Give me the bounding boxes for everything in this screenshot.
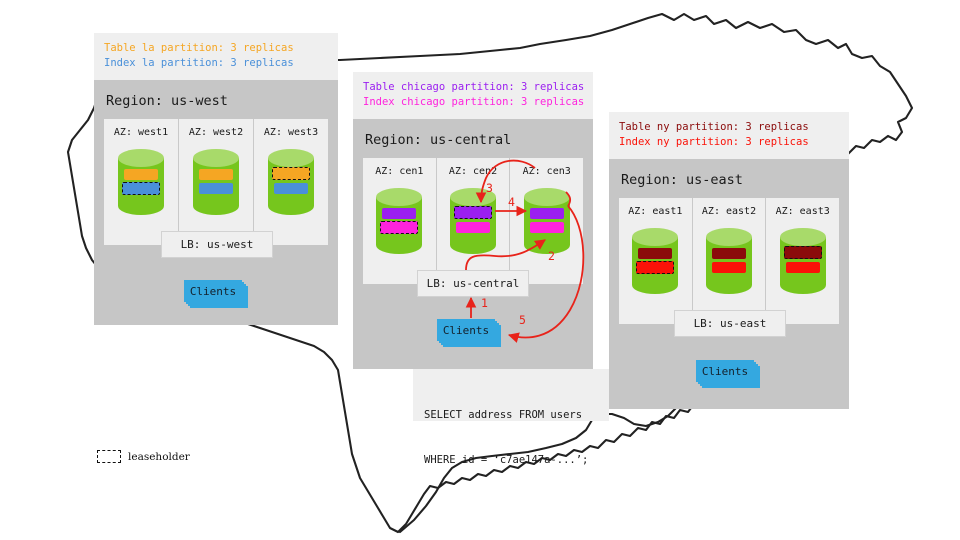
az-cell-east2[interactable]: AZ: east2 bbox=[693, 198, 767, 324]
az-label-west2: AZ: west2 bbox=[189, 127, 243, 138]
replica-bar-table bbox=[712, 248, 746, 259]
partition-header-us-central: Table chicago partition: 3 replicas Inde… bbox=[353, 72, 593, 119]
legend-label: leaseholder bbox=[128, 451, 190, 463]
partition-line-index: Index la partition: 3 replicas bbox=[104, 56, 328, 71]
flow-step-number-2: 2 bbox=[548, 249, 555, 263]
replica-bar-table bbox=[124, 169, 158, 180]
az-cell-cen2[interactable]: AZ: cen2 bbox=[437, 158, 511, 284]
az-label-east2: AZ: east2 bbox=[702, 206, 756, 217]
az-cell-west2[interactable]: AZ: west2 bbox=[179, 119, 254, 245]
partition-line-table: Table chicago partition: 3 replicas bbox=[363, 80, 583, 95]
sql-query-box: SELECT address FROM users WHERE id = ‘c7… bbox=[413, 369, 609, 421]
region-title-us-east: Region: us-east bbox=[609, 159, 849, 198]
replica-bar-table-leaseholder bbox=[272, 167, 310, 180]
replica-bar-index-leaseholder bbox=[636, 261, 674, 274]
az-cell-west3[interactable]: AZ: west3 bbox=[254, 119, 328, 245]
cylinder-shape bbox=[266, 147, 316, 217]
az-east2-cylinder[interactable] bbox=[704, 226, 754, 296]
az-cell-east1[interactable]: AZ: east1 bbox=[619, 198, 693, 324]
az-row-us-west: AZ: west1 AZ: west2 AZ bbox=[104, 119, 328, 245]
partition-line-table: Table ny partition: 3 replicas bbox=[619, 120, 839, 135]
flow-step-number-3: 3 bbox=[486, 181, 493, 195]
az-label-cen2: AZ: cen2 bbox=[449, 166, 497, 177]
az-west1-cylinder[interactable] bbox=[116, 147, 166, 217]
partition-line-index: Index ny partition: 3 replicas bbox=[619, 135, 839, 150]
cylinder-shape bbox=[704, 226, 754, 296]
az-cell-east3[interactable]: AZ: east3 bbox=[766, 198, 839, 324]
az-east3-cylinder[interactable] bbox=[778, 226, 828, 296]
sql-query-line1: SELECT address FROM users bbox=[424, 408, 598, 423]
cylinder-shape bbox=[522, 186, 572, 256]
az-label-east1: AZ: east1 bbox=[628, 206, 682, 217]
clients-label-us-east: Clients bbox=[696, 360, 754, 382]
clients-us-central[interactable]: Clients bbox=[437, 319, 507, 351]
az-label-west3: AZ: west3 bbox=[264, 127, 318, 138]
clients-label-us-west: Clients bbox=[184, 280, 242, 302]
replica-bar-index bbox=[712, 262, 746, 273]
replica-bar-table bbox=[530, 208, 564, 219]
clients-label-us-central: Clients bbox=[437, 319, 495, 341]
replica-bar-index bbox=[456, 222, 490, 233]
az-row-us-east: AZ: east1 AZ: east2 AZ bbox=[619, 198, 839, 324]
az-label-cen3: AZ: cen3 bbox=[523, 166, 571, 177]
cylinder-shape bbox=[778, 226, 828, 296]
partition-line-index: Index chicago partition: 3 replicas bbox=[363, 95, 583, 110]
region-title-us-central: Region: us-central bbox=[353, 119, 593, 158]
clients-us-west[interactable]: Clients bbox=[184, 280, 254, 312]
az-label-cen1: AZ: cen1 bbox=[375, 166, 423, 177]
az-east1-cylinder[interactable] bbox=[630, 226, 680, 296]
replica-bar-table-leaseholder bbox=[784, 246, 822, 259]
replica-bar-index bbox=[199, 183, 233, 194]
az-cen2-cylinder[interactable] bbox=[448, 186, 498, 256]
az-cen1-cylinder[interactable] bbox=[374, 186, 424, 256]
az-cell-west1[interactable]: AZ: west1 bbox=[104, 119, 179, 245]
az-west2-cylinder[interactable] bbox=[191, 147, 241, 217]
az-row-us-central: AZ: cen1 AZ: cen2 AZ: bbox=[363, 158, 583, 284]
cylinder-shape bbox=[448, 186, 498, 256]
region-title-us-west: Region: us-west bbox=[94, 80, 338, 119]
replica-bar-index-leaseholder bbox=[380, 221, 418, 234]
replica-bar-index-leaseholder bbox=[122, 182, 160, 195]
az-west3-cylinder[interactable] bbox=[266, 147, 316, 217]
az-label-west1: AZ: west1 bbox=[114, 127, 168, 138]
replica-bar-table bbox=[382, 208, 416, 219]
flow-step-number-5: 5 bbox=[519, 313, 526, 327]
legend-leaseholder: leaseholder bbox=[97, 450, 190, 463]
sql-query-line2: WHERE id = ‘c7ae147a-...’; bbox=[424, 453, 598, 468]
flow-step-number-1: 1 bbox=[481, 296, 488, 310]
partition-header-us-east: Table ny partition: 3 replicas Index ny … bbox=[609, 112, 849, 159]
replica-bar-index bbox=[786, 262, 820, 273]
az-label-east3: AZ: east3 bbox=[776, 206, 830, 217]
partition-header-us-west: Table la partition: 3 replicas Index la … bbox=[94, 33, 338, 80]
lb-us-east[interactable]: LB: us-east bbox=[674, 310, 786, 337]
cylinder-shape bbox=[191, 147, 241, 217]
partition-line-table: Table la partition: 3 replicas bbox=[104, 41, 328, 56]
clients-us-east[interactable]: Clients bbox=[696, 360, 766, 392]
lb-us-west[interactable]: LB: us-west bbox=[161, 231, 273, 258]
lb-us-central[interactable]: LB: us-central bbox=[417, 270, 529, 297]
replica-bar-table-leaseholder bbox=[454, 206, 492, 219]
az-cen3-cylinder[interactable] bbox=[522, 186, 572, 256]
leaseholder-swatch-icon bbox=[97, 450, 121, 463]
replica-bar-index bbox=[274, 183, 308, 194]
replica-bar-table bbox=[199, 169, 233, 180]
az-cell-cen1[interactable]: AZ: cen1 bbox=[363, 158, 437, 284]
replica-bar-table bbox=[638, 248, 672, 259]
az-cell-cen3[interactable]: AZ: cen3 bbox=[510, 158, 583, 284]
flow-step-number-4: 4 bbox=[508, 195, 515, 209]
replica-bar-index bbox=[530, 222, 564, 233]
